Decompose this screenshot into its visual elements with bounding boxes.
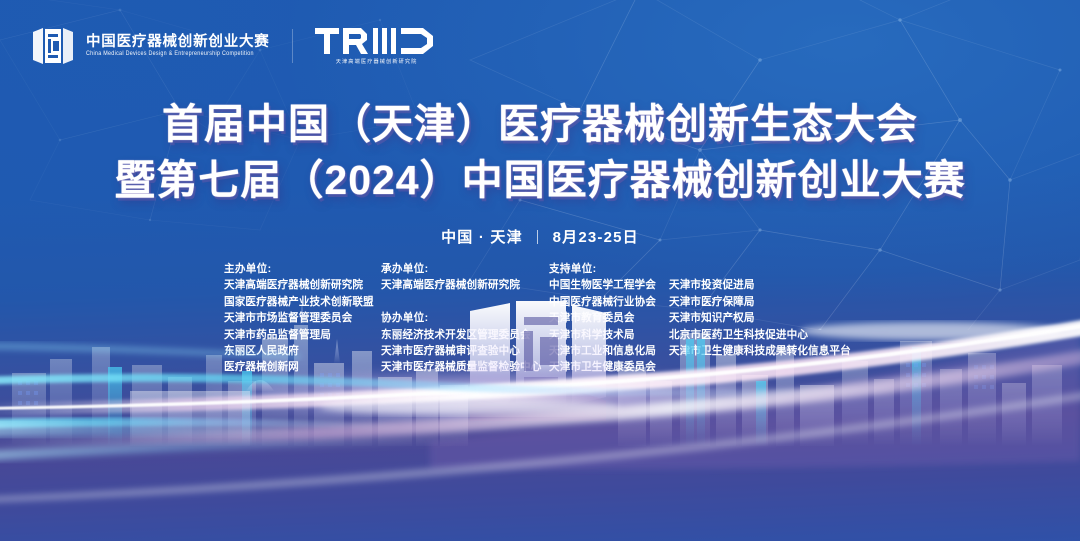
title-line-1: 首届中国（天津）医疗器械创新生态大会 bbox=[0, 98, 1080, 150]
competition-mark-icon bbox=[31, 26, 75, 66]
light-streaks-icon bbox=[0, 311, 1080, 541]
brand-name-en: China Medical Devices Design & Entrepren… bbox=[86, 52, 270, 58]
event-location: 中国 · 天津 bbox=[441, 229, 523, 246]
organizer-heading: 支持单位: bbox=[549, 261, 669, 277]
header-divider bbox=[292, 29, 293, 63]
event-meta: 中国 · 天津 8月23-25日 bbox=[0, 226, 1080, 247]
institute-brand: 天津高端医疗器械创新研究院 bbox=[315, 26, 439, 65]
event-date: 8月23-25日 bbox=[553, 229, 639, 246]
institute-name-cn: 天津高端医疗器械创新研究院 bbox=[336, 60, 418, 65]
organizer-heading: 承办单位: bbox=[381, 261, 549, 277]
conference-poster: 中国医疗器械创新创业大赛 China Medical Devices Desig… bbox=[0, 0, 1080, 541]
poster-header: 中国医疗器械创新创业大赛 China Medical Devices Desig… bbox=[31, 26, 439, 66]
competition-brand: 中国医疗器械创新创业大赛 China Medical Devices Desig… bbox=[31, 26, 270, 66]
meta-separator bbox=[537, 230, 538, 244]
poster-title: 首届中国（天津）医疗器械创新生态大会 暨第七届（2024）中国医疗器械创新创业大… bbox=[0, 98, 1080, 206]
organizer-heading: 主办单位: bbox=[224, 261, 381, 277]
triid-wordmark-icon bbox=[315, 26, 439, 56]
brand-name-cn: 中国医疗器械创新创业大赛 bbox=[86, 35, 270, 50]
title-line-2: 暨第七届（2024）中国医疗器械创新创业大赛 bbox=[0, 154, 1080, 206]
